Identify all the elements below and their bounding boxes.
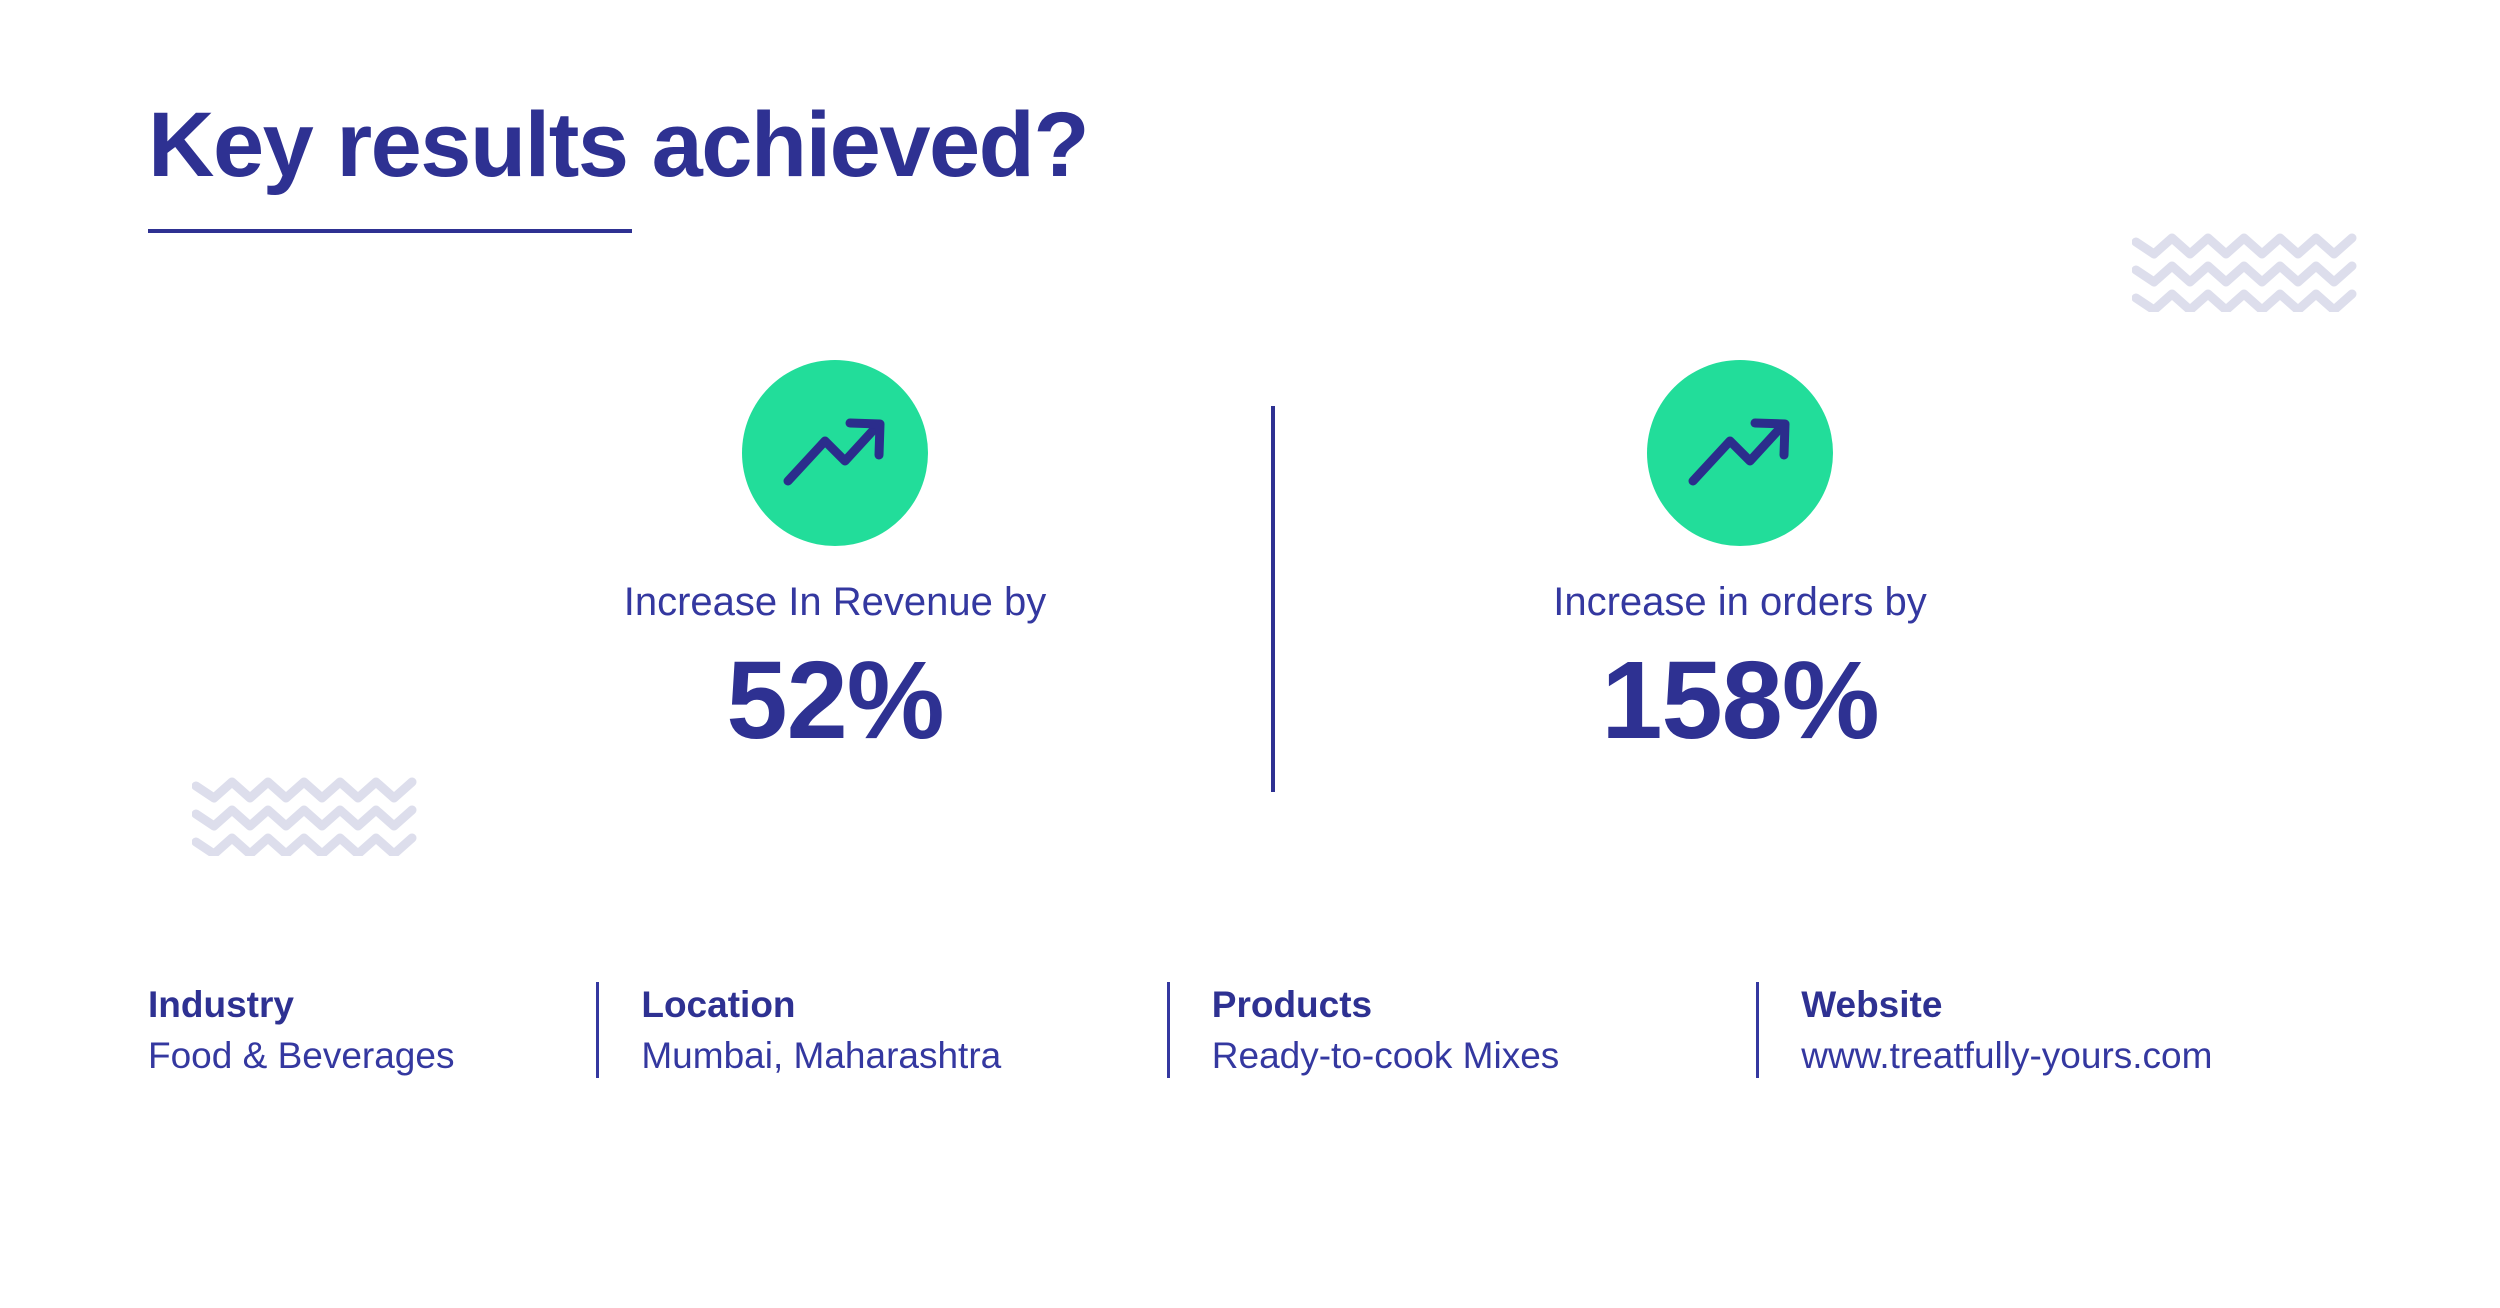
meta-label-location: Location (641, 982, 1140, 1027)
trending-up-icon (783, 413, 887, 494)
slide-canvas: Key results achieved? (0, 0, 2500, 1308)
title-underline (148, 229, 632, 233)
meta-label-website: Website (1801, 982, 2372, 1027)
meta-item-location: Location Mumbai, Maharashtra (596, 982, 1166, 1078)
wavy-lines-decoration-top-right (2132, 228, 2360, 312)
stat-icon-circle-orders (1647, 360, 1833, 546)
meta-label-industry: Industry (148, 982, 570, 1027)
stat-label-orders: Increase in orders by (1553, 578, 1927, 626)
meta-value-website[interactable]: www.treatfully-yours.com (1801, 1033, 2372, 1078)
page-title: Key results achieved? (148, 96, 1548, 195)
stats-row: Increase In Revenue by 52% Increase in o… (0, 360, 2500, 800)
meta-item-industry: Industry Food & Beverages (148, 982, 596, 1078)
stats-vertical-divider (1271, 406, 1275, 792)
stat-value-orders: 158% (1601, 638, 1878, 765)
stat-card-orders: Increase in orders by 158% (1410, 360, 2070, 765)
meta-label-products: Products (1212, 982, 1730, 1027)
stat-value-revenue: 52% (726, 638, 943, 765)
meta-value-products: Ready-to-cook Mixes (1212, 1033, 1730, 1078)
meta-item-products: Products Ready-to-cook Mixes (1167, 982, 1756, 1078)
stat-label-revenue: Increase In Revenue by (624, 578, 1046, 626)
trending-up-icon (1688, 413, 1792, 494)
meta-row: Industry Food & Beverages Location Mumba… (148, 982, 2398, 1078)
meta-value-location: Mumbai, Maharashtra (641, 1033, 1140, 1078)
title-block: Key results achieved? (148, 96, 1548, 233)
stat-icon-circle-revenue (742, 360, 928, 546)
stat-card-revenue: Increase In Revenue by 52% (505, 360, 1165, 765)
meta-value-industry: Food & Beverages (148, 1033, 570, 1078)
meta-item-website: Website www.treatfully-yours.com (1756, 982, 2398, 1078)
